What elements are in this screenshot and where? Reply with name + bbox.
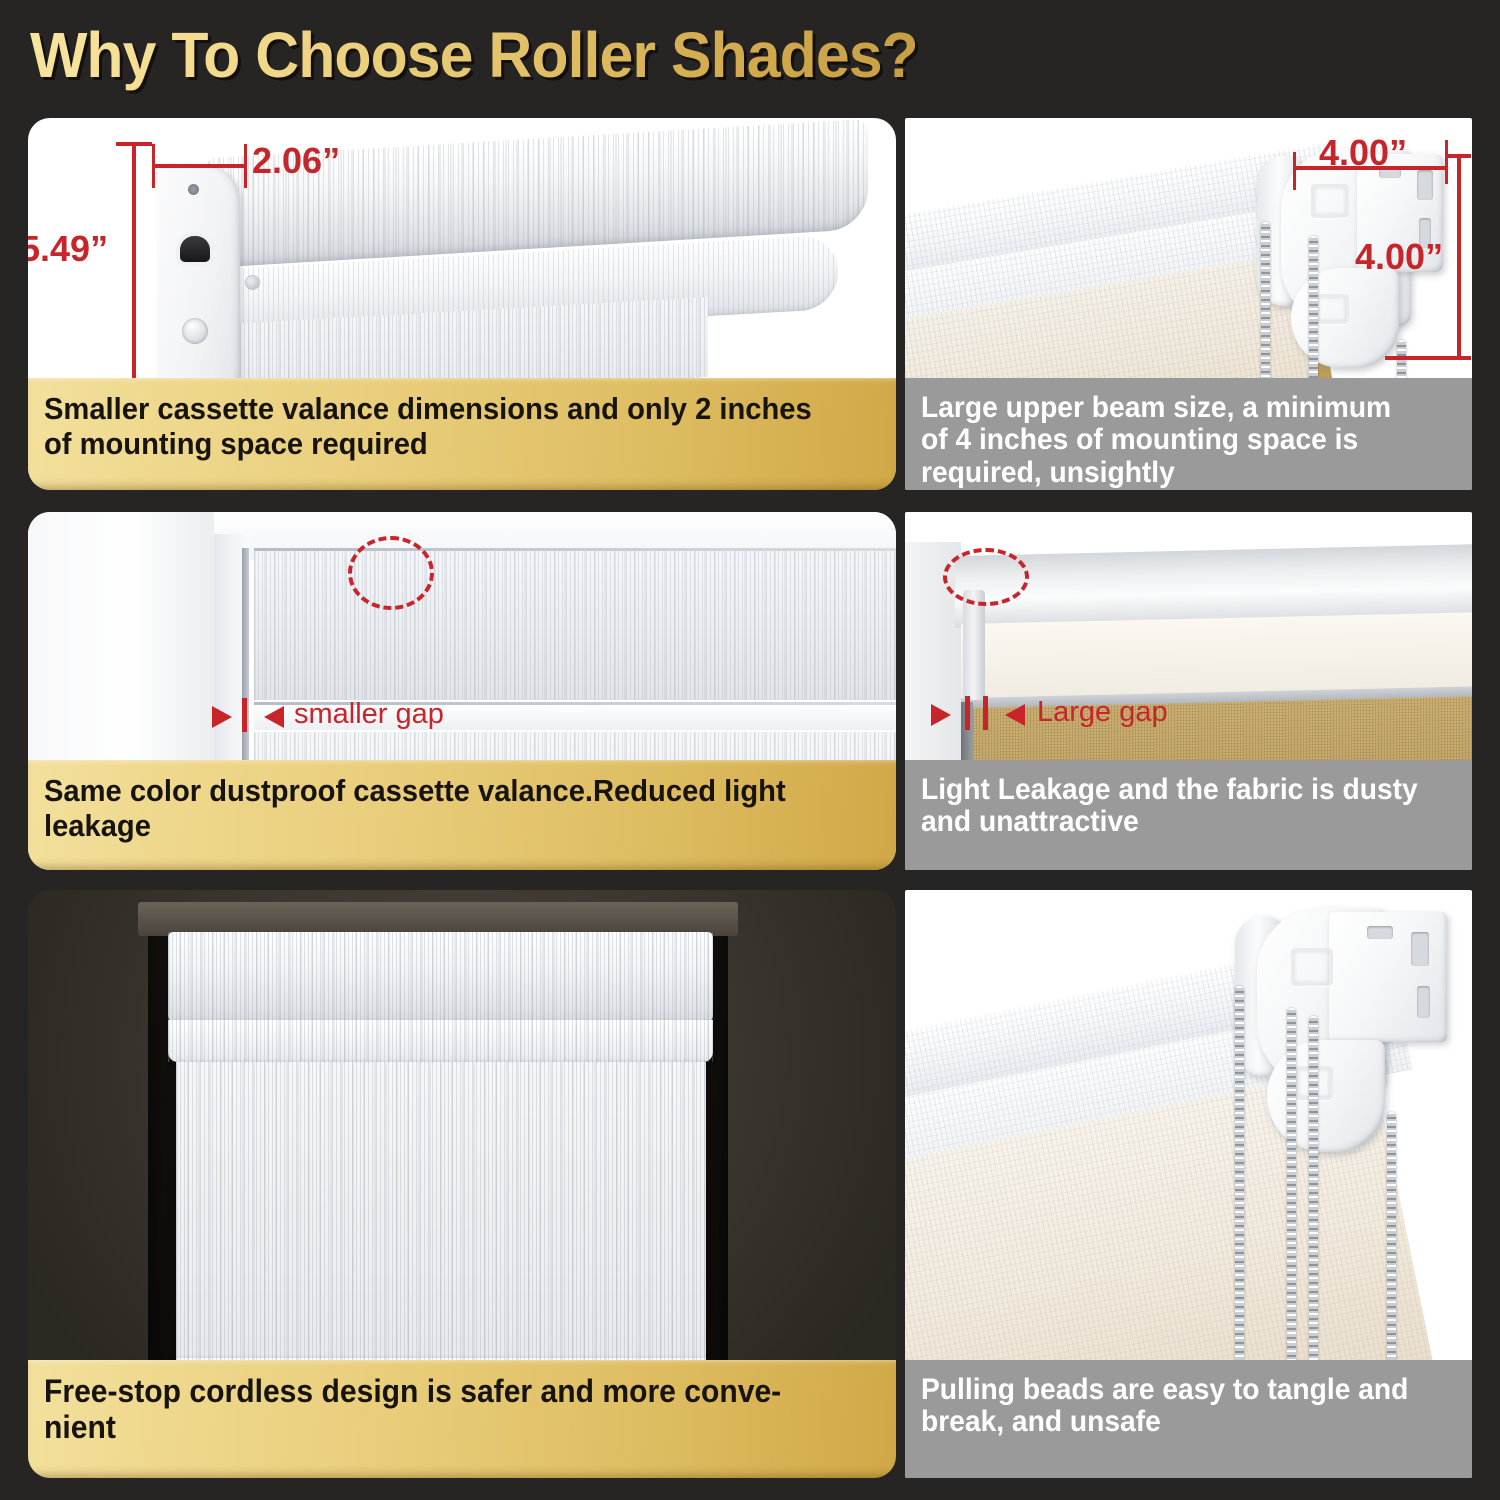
- height-dim-line: [1457, 154, 1461, 360]
- bead-chain-2: [1287, 1008, 1296, 1392]
- panel-6-caption: Pulling beads are easy to tangle and bre…: [921, 1374, 1424, 1439]
- width-dim-line: [154, 164, 246, 168]
- panel-4-caption-bar: Light Leakage and the fabric is dusty an…: [905, 760, 1472, 870]
- shade-side-clip: [963, 590, 985, 700]
- end-cap-pin-icon: [188, 184, 199, 195]
- panel-1-caption-bar: Smaller cassette valance dimensions and …: [28, 378, 896, 490]
- gap-marker: [242, 698, 247, 732]
- roller-shade-fabric: [176, 1062, 706, 1372]
- panel-2-caption: Large upper beam size, a minimum of 4 in…: [921, 392, 1424, 489]
- gap-arrow-left-icon: [264, 706, 284, 728]
- bead-chain-1: [1235, 986, 1244, 1392]
- gap-arrow-right-icon: [931, 704, 951, 726]
- gap-marker-2: [983, 696, 988, 730]
- width-dimension-label: 4.00”: [1319, 132, 1407, 174]
- bracket-arrow-emboss-icon: [1291, 948, 1333, 986]
- cassette-valance: [168, 932, 713, 1024]
- title-bar: Why To Choose Roller Shades? Why To Choo…: [0, 0, 1500, 110]
- highlight-circle-icon: [348, 536, 434, 610]
- bracket-slot-icon: [1417, 170, 1433, 200]
- height-dim-tick-top: [1445, 154, 1471, 158]
- bracket-slot-icon: [1411, 932, 1429, 966]
- gap-marker-1: [965, 696, 970, 730]
- bracket-slot2-icon: [1417, 986, 1430, 1018]
- gap-arrow-right-icon: [212, 706, 232, 728]
- page-title: Why To Choose Roller Shades?: [30, 18, 918, 92]
- panel-pulling-beads[interactable]: Pulling beads are easy to tangle and bre…: [905, 890, 1472, 1478]
- panel-2-caption-bar: Large upper beam size, a minimum of 4 in…: [905, 378, 1472, 490]
- bracket-arrow-emboss-icon: [1311, 184, 1349, 218]
- end-cap-bolt-icon: [246, 276, 259, 289]
- panel-5-caption-bar: Free-stop cordless design is safer and m…: [28, 1360, 896, 1478]
- height-dimension-label: 4.00”: [1355, 236, 1443, 278]
- panel-1-caption: Smaller cassette valance dimensions and …: [44, 392, 830, 461]
- bracket-arrow-emboss2-icon: [1315, 294, 1349, 324]
- panel-3-caption-bar: Same color dustproof cassette valance.Re…: [28, 760, 896, 870]
- width-dim-tick-left: [1293, 152, 1296, 190]
- panel-cordless-design[interactable]: Free-stop cordless design is safer and m…: [28, 890, 896, 1478]
- width-dim-tick-right: [1445, 140, 1448, 184]
- highlight-circle-icon: [943, 548, 1029, 606]
- height-dimension-label: 5.49”: [28, 228, 108, 270]
- end-cap-slot-icon: [180, 236, 210, 262]
- height-dim-tick-bottom: [1385, 356, 1471, 360]
- valance-top-edge: [254, 548, 896, 551]
- width-dimension-label: 2.06”: [252, 140, 340, 182]
- bracket-notch-icon: [1367, 926, 1393, 939]
- panel-5-caption: Free-stop cordless design is safer and m…: [44, 1374, 830, 1446]
- cassette-valance-lip: [168, 1020, 713, 1062]
- panel-4-caption: Light Leakage and the fabric is dusty an…: [921, 774, 1424, 839]
- panel-3-caption: Same color dustproof cassette valance.Re…: [44, 774, 830, 843]
- panel-light-leakage[interactable]: Large gap Light Leakage and the fabric i…: [905, 512, 1472, 870]
- height-dim-line: [132, 142, 136, 390]
- end-cap-screw-icon: [182, 318, 208, 344]
- gap-arrow-left-icon: [1005, 704, 1025, 726]
- panel-smaller-cassette[interactable]: 2.06” 5.49” Smaller cassette valance dim…: [28, 118, 896, 490]
- window-lintel: [138, 902, 738, 936]
- panel-6-caption-bar: Pulling beads are easy to tangle and bre…: [905, 1360, 1472, 1478]
- gap-label: Large gap: [1037, 696, 1168, 729]
- bead-chain-4: [1387, 1112, 1396, 1392]
- bead-chain-3: [1309, 1016, 1318, 1392]
- panel-dustproof-valance[interactable]: smaller gap Same color dustproof cassett…: [28, 512, 896, 870]
- gap-label: smaller gap: [294, 698, 444, 731]
- height-dim-tick-top: [116, 142, 152, 146]
- panel-large-upper-beam[interactable]: 4.00” 4.00” Large upper beam size, a min…: [905, 118, 1472, 490]
- valance-end-cap: [158, 163, 240, 394]
- cream-band: [961, 612, 1472, 700]
